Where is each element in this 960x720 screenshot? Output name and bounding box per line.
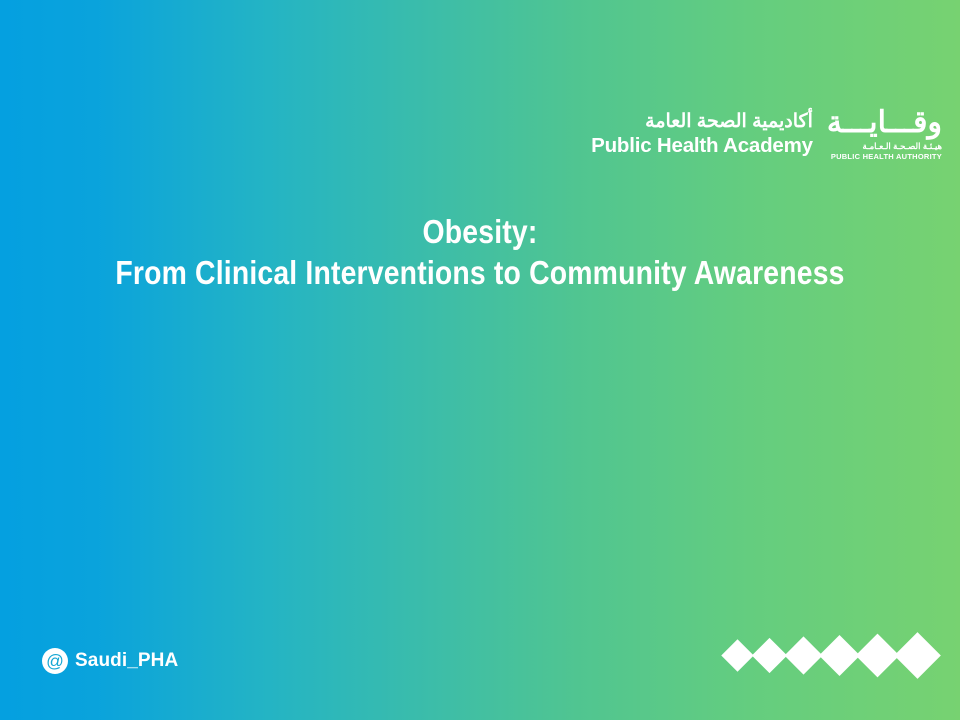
social-handle[interactable]: @ Saudi_PHA xyxy=(42,648,178,674)
diamond-decoration-row xyxy=(726,628,934,682)
at-sign-icon: @ xyxy=(42,648,68,674)
diamond-icon-1 xyxy=(721,639,754,672)
authority-wordmark-arabic: وقـــايـــة xyxy=(827,108,942,138)
diamond-icon-3 xyxy=(784,636,822,674)
slide-title-block: Obesity: From Clinical Interventions to … xyxy=(0,212,960,294)
public-health-authority-logo: وقـــايـــة هيـئـة الصـحـة الـعـامـة PUB… xyxy=(827,108,942,161)
brand-logo-lockup: أكاديمية الصحة العامة Public Health Acad… xyxy=(591,108,942,161)
title-slide: أكاديمية الصحة العامة Public Health Acad… xyxy=(0,0,960,720)
authority-name-arabic: هيـئـة الصـحـة الـعـامـة xyxy=(863,142,942,151)
page-subtitle: From Clinical Interventions to Community… xyxy=(67,252,893,294)
public-health-academy-logo: أكاديمية الصحة العامة Public Health Acad… xyxy=(591,112,827,157)
diamond-icon-4 xyxy=(819,634,860,675)
page-title: Obesity: xyxy=(67,212,893,252)
academy-name-arabic: أكاديمية الصحة العامة xyxy=(645,112,813,131)
academy-name-english: Public Health Academy xyxy=(591,136,813,157)
svg-text:@: @ xyxy=(46,651,64,671)
diamond-icon-6 xyxy=(894,632,941,679)
diamond-icon-2 xyxy=(752,637,787,672)
social-handle-label: Saudi_PHA xyxy=(75,650,178,672)
authority-name-english: PUBLIC HEALTH AUTHORITY xyxy=(831,153,942,161)
